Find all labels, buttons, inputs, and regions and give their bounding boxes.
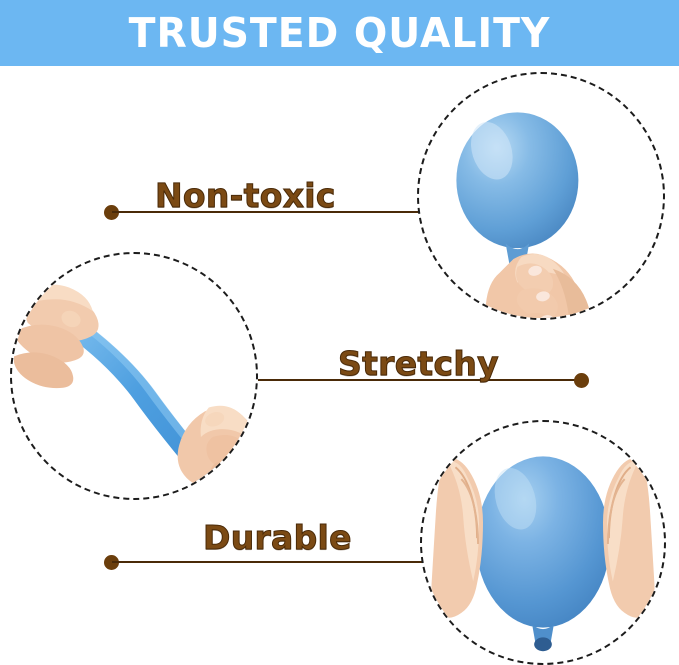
hand-shape-left <box>431 458 483 618</box>
connector-line-durable <box>112 561 422 563</box>
hands-stretching-balloon-illustration <box>12 254 256 498</box>
photo-circle-hands-stretching-balloon <box>10 252 258 500</box>
photo-circle-hands-pressing-balloon <box>420 420 666 665</box>
feature-label-non-toxic: Non-toxic <box>155 176 336 215</box>
hands-pressing-balloon-illustration <box>422 422 664 663</box>
hand-shape-lower <box>178 406 256 491</box>
hand-holding-balloon-illustration <box>419 74 663 318</box>
hand-shape <box>486 254 591 318</box>
feature-label-durable: Durable <box>203 518 352 557</box>
hand-shape-right <box>603 458 655 618</box>
connector-dot-stretchy <box>574 373 589 388</box>
hand-shape-upper <box>14 285 99 389</box>
product-feature-infographic: TRUSTED QUALITY Non-toxic Stretchy Durab… <box>0 0 679 665</box>
page-title: TRUSTED QUALITY <box>14 9 666 57</box>
photo-circle-hand-holding-balloon <box>417 72 665 320</box>
header-banner: TRUSTED QUALITY <box>0 0 679 66</box>
feature-label-stretchy: Stretchy <box>338 344 499 383</box>
